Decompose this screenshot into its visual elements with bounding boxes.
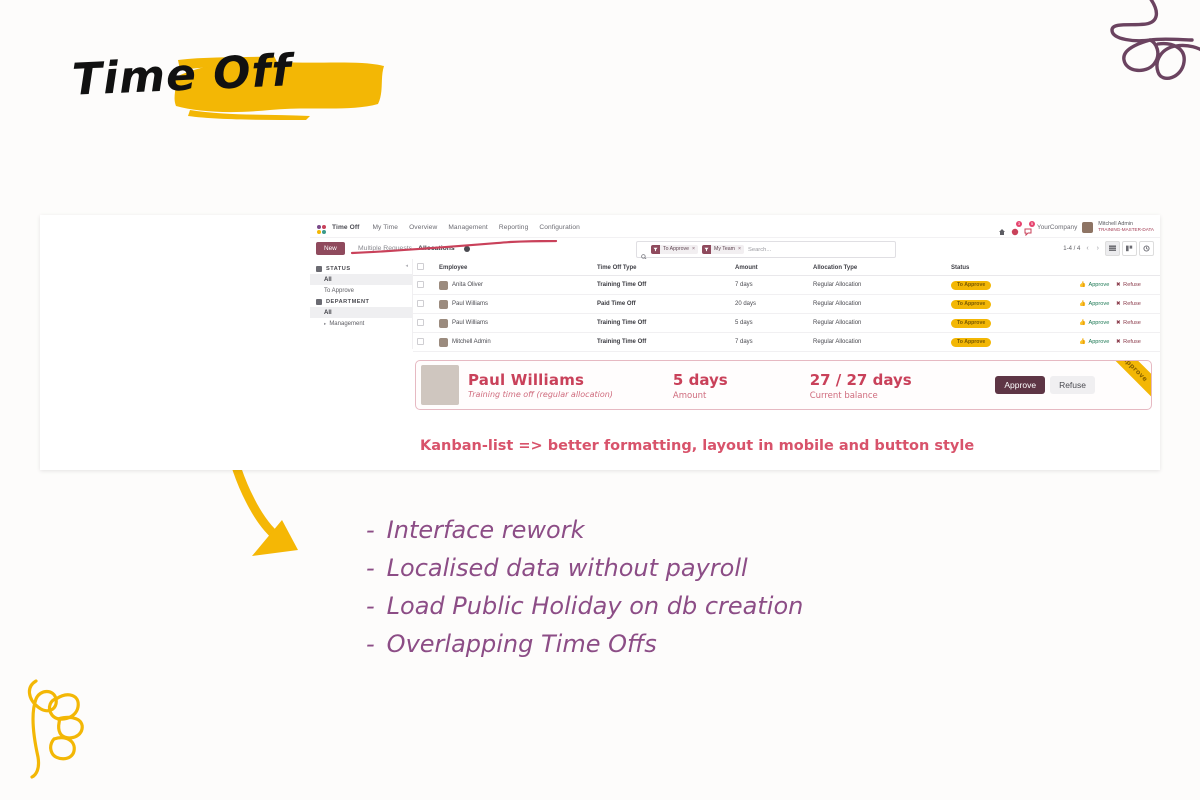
cell-amount: 5 days: [731, 314, 809, 333]
refuse-label: Refuse: [1123, 282, 1141, 288]
view-switcher: [1105, 241, 1154, 256]
detail-card-amount-label: Amount: [673, 391, 728, 401]
bullet-list: - Interface rework - Localised data with…: [366, 512, 986, 664]
x-icon: ✖: [1116, 339, 1121, 345]
control-panel-right: 1-4 / 4 ‹ ›: [1063, 241, 1154, 256]
column-amount[interactable]: Amount: [731, 259, 809, 276]
search-facet-my-team-remove[interactable]: ×: [738, 245, 744, 254]
sidebar-item-department-all[interactable]: All: [310, 307, 412, 318]
row-checkbox[interactable]: [413, 333, 435, 352]
sidebar-item-status-all[interactable]: All: [310, 274, 412, 285]
list-item: - Interface rework: [366, 512, 986, 550]
status-badge: To Approve: [951, 338, 991, 347]
column-actions: [1075, 259, 1160, 276]
cell-status: To Approve: [947, 276, 1075, 295]
refuse-button[interactable]: ✖ Refuse: [1116, 320, 1141, 326]
detail-card-amount: 5 days Amount: [673, 370, 728, 401]
cell-employee: Paul Williams: [435, 314, 593, 333]
cell-employee-name: Paul Williams: [452, 320, 488, 326]
control-panel: New Multiple Requests Allocations: [310, 238, 1160, 259]
clock-activity-icon[interactable]: 3: [1011, 223, 1019, 231]
column-allocation-type[interactable]: Allocation Type: [809, 259, 947, 276]
sidebar-section-department-label: DEPARTMENT: [326, 299, 369, 305]
pager-range: 1-4 / 4: [1063, 246, 1080, 252]
allocation-detail-card[interactable]: Paul Williams Training time off (regular…: [415, 360, 1152, 410]
sidebar-section-department: DEPARTMENT: [310, 296, 412, 307]
detail-card-balance: 27 / 27 days Current balance: [810, 370, 912, 401]
search-placeholder[interactable]: Search...: [748, 247, 891, 253]
checkbox-icon[interactable]: [417, 300, 424, 307]
select-all-checkbox-header[interactable]: [413, 259, 435, 276]
search-facet-my-team[interactable]: My Team ×: [702, 245, 744, 254]
detail-card-balance-value: 27 / 27 days: [810, 371, 912, 389]
bullet-text: Interface rework: [387, 512, 585, 550]
row-checkbox[interactable]: [413, 314, 435, 333]
approve-button[interactable]: 👍 Approve: [1079, 339, 1109, 345]
odoo-content: ◂ STATUS All To Approve DEPARTMENT All M…: [310, 259, 1160, 349]
detail-card-actions: Approve Refuse: [995, 376, 1095, 394]
sidebar-section-status-label: STATUS: [326, 266, 351, 272]
table-row[interactable]: Paul Williams Training Time Off 5 days R…: [413, 314, 1160, 333]
breadcrumb: Multiple Requests Allocations: [358, 242, 470, 255]
cell-status: To Approve: [947, 295, 1075, 314]
gear-icon[interactable]: [464, 246, 470, 252]
detail-card-amount-value: 5 days: [673, 371, 728, 389]
search-facet-to-approve-label: To Approve: [660, 245, 692, 254]
nav-item-configuration[interactable]: Configuration: [539, 224, 580, 231]
cell-employee: Anita Oliver: [435, 276, 593, 295]
search-facet-to-approve[interactable]: To Approve ×: [651, 245, 698, 254]
cell-time-off-type: Training Time Off: [593, 314, 731, 333]
table-row[interactable]: Paul Williams Paid Time Off 20 days Regu…: [413, 295, 1160, 314]
detail-card-identity: Paul Williams Training time off (regular…: [468, 371, 613, 399]
search-panel-sidebar: ◂ STATUS All To Approve DEPARTMENT All M…: [310, 259, 413, 349]
detail-card-approve-button[interactable]: Approve: [995, 376, 1045, 394]
odoo-app: Time Off My Time Overview Management Rep…: [310, 215, 1160, 470]
avatar: [439, 281, 448, 290]
filter-icon: [702, 245, 711, 254]
bullet-text: Load Public Holiday on db creation: [387, 588, 804, 626]
status-badge: To Approve: [951, 319, 991, 328]
employee-photo: [421, 365, 459, 405]
cell-status: To Approve: [947, 333, 1075, 352]
sidebar-section-status: STATUS: [310, 263, 412, 274]
list-view-icon[interactable]: [1105, 241, 1120, 256]
cell-employee-name: Mitchell Admin: [452, 339, 491, 345]
x-icon: ✖: [1116, 282, 1121, 288]
x-icon: ✖: [1116, 320, 1121, 326]
sidebar-item-status-to-approve[interactable]: To Approve: [310, 285, 412, 296]
checkbox-icon[interactable]: [417, 319, 424, 326]
cell-time-off-type: Training Time Off: [593, 276, 731, 295]
refuse-label: Refuse: [1123, 320, 1141, 326]
nav-item-overview[interactable]: Overview: [409, 224, 437, 231]
avatar[interactable]: [1082, 222, 1093, 233]
approve-label: Approve: [1088, 320, 1109, 326]
refuse-label: Refuse: [1123, 301, 1141, 307]
messages-count-badge: 5: [1029, 221, 1035, 227]
row-checkbox[interactable]: [413, 276, 435, 295]
cell-employee: Paul Williams: [435, 295, 593, 314]
bullet-dash: -: [366, 626, 375, 664]
cell-actions: 👍 Approve ✖ Refuse: [1075, 333, 1160, 352]
refuse-button[interactable]: ✖ Refuse: [1116, 301, 1141, 307]
list-item: - Overlapping Time Offs: [366, 626, 986, 664]
bullet-text: Overlapping Time Offs: [387, 626, 657, 664]
building-icon: [316, 299, 322, 305]
page-title-text: Time Off: [71, 45, 293, 106]
cell-status: To Approve: [947, 314, 1075, 333]
status-badge: To Approve: [951, 281, 991, 290]
decorative-squiggle-top-right: [1088, 0, 1200, 113]
nav-item-management[interactable]: Management: [448, 224, 488, 231]
avatar: [439, 319, 448, 328]
search-icon: [641, 247, 647, 253]
approve-button[interactable]: 👍 Approve: [1079, 282, 1109, 288]
kanban-note-annotation: Kanban-list => better formatting, layout…: [420, 438, 974, 454]
cell-amount: 7 days: [731, 333, 809, 352]
detail-card-balance-label: Current balance: [810, 391, 912, 401]
detail-card-ribbon: To Approve: [1098, 360, 1152, 398]
embedded-screenshot: Time Off My Time Overview Management Rep…: [40, 215, 1160, 470]
cell-actions: 👍 Approve ✖ Refuse: [1075, 314, 1160, 333]
avatar: [439, 338, 448, 347]
systray: 3 5 YourCompany Mitchell Admin TRAINING-…: [998, 217, 1154, 237]
breadcrumb-allocations: Allocations: [418, 245, 455, 252]
company-name[interactable]: YourCompany: [1037, 224, 1077, 231]
column-time-off-type[interactable]: Time Off Type: [593, 259, 731, 276]
cell-employee-name: Anita Oliver: [452, 282, 483, 288]
bullet-text: Localised data without payroll: [387, 550, 748, 588]
list-item: - Load Public Holiday on db creation: [366, 588, 986, 626]
home-icon[interactable]: [998, 223, 1006, 231]
allocations-table: Employee Time Off Type Amount Allocation…: [413, 259, 1160, 352]
sidebar-collapse-icon[interactable]: ◂: [405, 263, 408, 269]
nav-item-my-time[interactable]: My Time: [372, 224, 398, 231]
cell-amount: 7 days: [731, 276, 809, 295]
new-button[interactable]: New: [316, 242, 345, 255]
sidebar-item-department-management[interactable]: Management: [310, 318, 412, 329]
cell-actions: 👍 Approve ✖ Refuse: [1075, 276, 1160, 295]
search-facet-my-team-label: My Team: [711, 245, 738, 254]
pager-next-button[interactable]: ›: [1095, 245, 1101, 252]
approve-button[interactable]: 👍 Approve: [1079, 320, 1109, 326]
cell-amount: 20 days: [731, 295, 809, 314]
nav-item-reporting[interactable]: Reporting: [499, 224, 529, 231]
folder-icon: [316, 266, 322, 272]
approve-label: Approve: [1088, 339, 1109, 345]
checkbox-icon[interactable]: [417, 338, 424, 345]
filter-icon: [651, 245, 660, 254]
cell-employee-name: Paul Williams: [452, 301, 488, 307]
apps-grid-icon[interactable]: [316, 222, 327, 233]
table-header-row: Employee Time Off Type Amount Allocation…: [413, 259, 1160, 276]
cell-employee: Mitchell Admin: [435, 333, 593, 352]
cell-allocation-type: Regular Allocation: [809, 276, 947, 295]
activity-view-icon[interactable]: [1139, 241, 1154, 256]
row-checkbox[interactable]: [413, 295, 435, 314]
cell-time-off-type: Paid Time Off: [593, 295, 731, 314]
bullet-dash: -: [366, 588, 375, 626]
pager-prev-button[interactable]: ‹: [1084, 245, 1090, 252]
approve-label: Approve: [1088, 282, 1109, 288]
bullet-dash: -: [366, 550, 375, 588]
breadcrumb-multiple-requests[interactable]: Multiple Requests: [358, 245, 412, 252]
thumbs-up-icon: 👍: [1079, 339, 1086, 345]
checkbox-icon[interactable]: [417, 263, 424, 270]
page-title: Time Off: [62, 42, 362, 128]
detail-card-name: Paul Williams: [468, 371, 613, 389]
refuse-button[interactable]: ✖ Refuse: [1116, 339, 1141, 345]
cell-allocation-type: Regular Allocation: [809, 295, 947, 314]
user-info[interactable]: Mitchell Admin TRAINING-MASTER-DATA: [1098, 221, 1154, 232]
search-facet-to-approve-remove[interactable]: ×: [692, 245, 698, 254]
detail-card-subtitle: Training time off (regular allocation): [468, 390, 613, 399]
cell-time-off-type: Training Time Off: [593, 333, 731, 352]
detail-card-refuse-button[interactable]: Refuse: [1050, 376, 1095, 394]
nav-brand[interactable]: Time Off: [332, 224, 359, 231]
activity-count-badge: 3: [1016, 221, 1022, 227]
refuse-button[interactable]: ✖ Refuse: [1116, 282, 1141, 288]
x-icon: ✖: [1116, 301, 1121, 307]
approve-button[interactable]: 👍 Approve: [1079, 301, 1109, 307]
thumbs-up-icon: 👍: [1079, 282, 1086, 288]
search-input[interactable]: To Approve × My Team × Search...: [636, 241, 896, 258]
approve-label: Approve: [1088, 301, 1109, 307]
decorative-squiggle-bottom-left: [18, 665, 122, 786]
cell-allocation-type: Regular Allocation: [809, 333, 947, 352]
column-employee[interactable]: Employee: [435, 259, 593, 276]
column-status[interactable]: Status: [947, 259, 1075, 276]
avatar: [439, 300, 448, 309]
checkbox-icon[interactable]: [417, 281, 424, 288]
table-row[interactable]: Mitchell Admin Training Time Off 7 days …: [413, 333, 1160, 352]
table-row[interactable]: Anita Oliver Training Time Off 7 days Re…: [413, 276, 1160, 295]
bullet-dash: -: [366, 512, 375, 550]
list-item: - Localised data without payroll: [366, 550, 986, 588]
chat-bubble-icon[interactable]: 5: [1024, 223, 1032, 231]
status-badge: To Approve: [951, 300, 991, 309]
odoo-navbar: Time Off My Time Overview Management Rep…: [310, 217, 1160, 238]
kanban-view-icon[interactable]: [1122, 241, 1137, 256]
user-database: TRAINING-MASTER-DATA: [1098, 227, 1154, 232]
cell-actions: 👍 Approve ✖ Refuse: [1075, 295, 1160, 314]
refuse-label: Refuse: [1123, 339, 1141, 345]
thumbs-up-icon: 👍: [1079, 320, 1086, 326]
cell-allocation-type: Regular Allocation: [809, 314, 947, 333]
thumbs-up-icon: 👍: [1079, 301, 1086, 307]
allocations-list: Employee Time Off Type Amount Allocation…: [413, 259, 1160, 349]
